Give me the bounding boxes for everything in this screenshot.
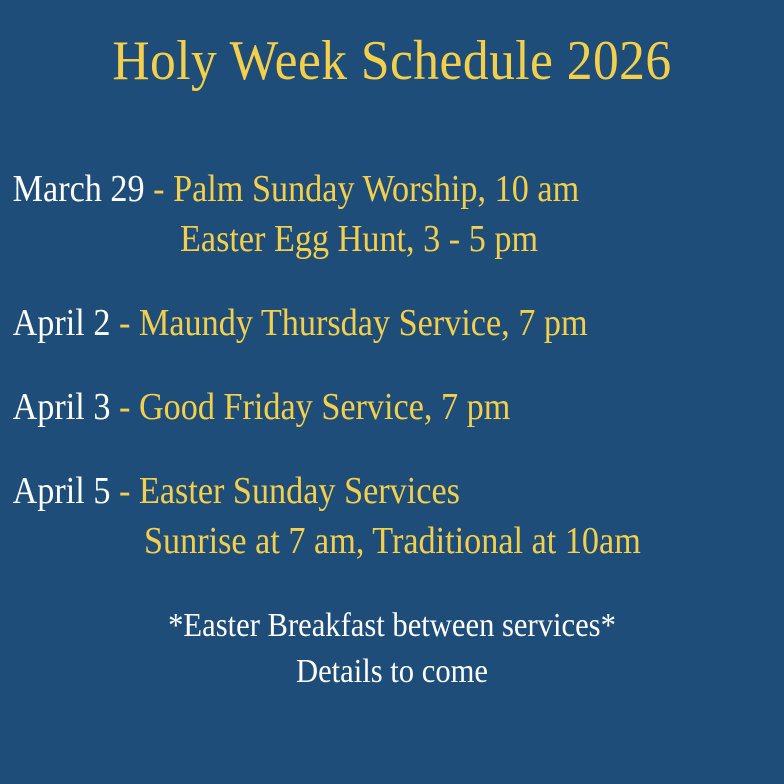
schedule-entry-line: March 29 - Palm Sunday Worship, 10 am — [0, 164, 706, 214]
schedule-separator: - — [110, 386, 138, 428]
footnote-details: Details to come — [39, 649, 745, 695]
schedule-separator: - — [145, 168, 173, 210]
schedule-event: Good Friday Service, 7 pm — [139, 386, 510, 428]
schedule-date: April 2 — [13, 302, 111, 344]
schedule-sub-event-line: Easter Egg Hunt, 3 - 5 pm — [0, 214, 706, 264]
schedule-separator: - — [110, 302, 138, 344]
schedule-entry-line: April 3 - Good Friday Service, 7 pm — [0, 382, 706, 432]
schedule-entry-line: April 5 - Easter Sunday Services — [0, 466, 706, 516]
page-title: Holy Week Schedule 2026 — [31, 28, 752, 94]
footnote-breakfast: *Easter Breakfast between services* — [39, 603, 745, 649]
schedule-event: Easter Sunday Services — [139, 470, 460, 512]
schedule-date: April 3 — [13, 386, 111, 428]
schedule-event: Palm Sunday Worship, 10 am — [173, 168, 579, 210]
schedule-event: Maundy Thursday Service, 7 pm — [139, 302, 588, 344]
holy-week-poster: Holy Week Schedule 2026 March 29 - Palm … — [0, 0, 784, 784]
schedule-list: March 29 - Palm Sunday Worship, 10 am Ea… — [0, 164, 784, 566]
schedule-entry-march-29: March 29 - Palm Sunday Worship, 10 am Ea… — [0, 164, 784, 264]
schedule-date: April 5 — [13, 470, 111, 512]
schedule-sub-event: Easter Egg Hunt, 3 - 5 pm — [180, 218, 538, 260]
schedule-separator: - — [110, 470, 138, 512]
schedule-entry-april-5: April 5 - Easter Sunday Services Sunrise… — [0, 466, 784, 566]
schedule-entry-april-2: April 2 - Maundy Thursday Service, 7 pm — [0, 298, 784, 348]
schedule-entry-line: April 2 - Maundy Thursday Service, 7 pm — [0, 298, 706, 348]
schedule-sub-event: Sunrise at 7 am, Traditional at 10am — [144, 520, 641, 562]
schedule-date: March 29 — [13, 168, 145, 210]
schedule-entry-april-3: April 3 - Good Friday Service, 7 pm — [0, 382, 784, 432]
schedule-sub-event-line: Sunrise at 7 am, Traditional at 10am — [0, 516, 706, 566]
footnotes: *Easter Breakfast between services* Deta… — [0, 603, 784, 695]
